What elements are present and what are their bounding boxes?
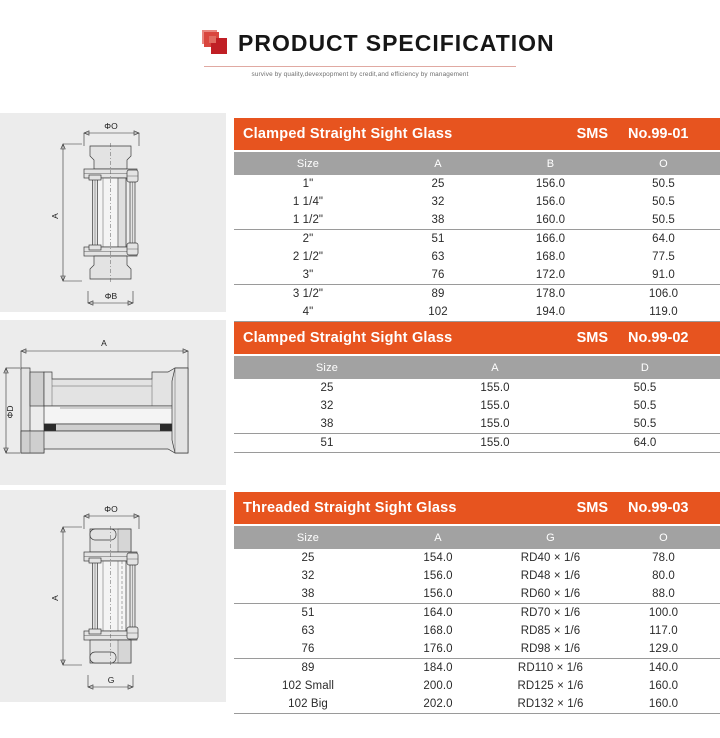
table-cell: 102 Small — [234, 677, 382, 695]
table-row: 4"102194.0119.0160.0 — [234, 303, 720, 322]
spec-table-2-number: No.99-02 — [608, 330, 720, 346]
table-row: 102 Big202.0RD132 × 1/6160.0 — [234, 695, 720, 714]
drawing-panel-2: A ΦD — [0, 320, 226, 485]
column-header-a: A — [420, 356, 570, 379]
dim-label-A: A — [50, 213, 60, 219]
table-row: 2 1/2"63168.077.5117.0 — [234, 248, 720, 266]
spec-table-1-body: 1"25156.050.578.01 1/4"32156.050.578.01 … — [234, 175, 720, 322]
spec-table-3-name: Threaded Straight Sight Glass — [234, 500, 577, 516]
column-header-size: Size — [234, 152, 382, 175]
table-cell: 156.0 — [494, 175, 607, 193]
table-cell: 76 — [382, 266, 494, 285]
table-cell: 155.0 — [420, 415, 570, 434]
dim-label-phi-D: ΦD — [5, 406, 15, 419]
spec-table-3: Size A G O 25154.0RD40 × 1/678.032156.0R… — [234, 526, 720, 714]
table-cell: 4" — [234, 303, 382, 322]
table-cell: 3" — [234, 266, 382, 285]
squares-logo-icon — [202, 29, 232, 57]
spec-table-2-title-bar: Clamped Straight Sight Glass SMS No.99-0… — [234, 322, 720, 354]
spec-table-1-wrap: Size A B O 1"25156.050.578.01 1/4"32156.… — [234, 150, 720, 322]
table-row: 32156.0RD48 × 1/680.0 — [234, 567, 720, 585]
dim-label-phi-O: ΦO — [104, 504, 118, 514]
table-cell: RD125 × 1/6 — [494, 677, 607, 695]
spec-table-2-standard: SMS — [577, 330, 608, 346]
table-row: 3"76172.091.0129.0 — [234, 266, 720, 285]
spec-table-3-standard: SMS — [577, 500, 608, 516]
table-cell: 51 — [234, 604, 382, 623]
table-cell: 2" — [234, 230, 382, 249]
spec-table-1-number: No.99-01 — [608, 126, 720, 142]
table-cell: 25 — [382, 175, 494, 193]
table-cell: 168.0 — [494, 248, 607, 266]
table-header-row: Size A B O — [234, 152, 720, 175]
table-cell: 178.0 — [494, 285, 607, 304]
table-cell: RD48 × 1/6 — [494, 567, 607, 585]
table-row: 51164.0RD70 × 1/6100.0 — [234, 604, 720, 623]
table-cell: 51 — [382, 230, 494, 249]
dim-label-G: G — [108, 675, 115, 685]
table-cell: 88.0 — [607, 585, 720, 604]
spec-table-1-title-bar: Clamped Straight Sight Glass SMS No.99-0… — [234, 118, 720, 150]
table-row: 3 1/2"89178.0106.0140.0 — [234, 285, 720, 304]
table-cell: 32 — [234, 397, 420, 415]
table-cell: 50.5 — [607, 211, 720, 230]
table-row: 38156.0RD60 × 1/688.0 — [234, 585, 720, 604]
page-title: PRODUCTSPECIFICATION — [238, 32, 555, 55]
table-cell: 1 1/4" — [234, 193, 382, 211]
spec-table-block-3: Threaded Straight Sight Glass SMS No.99-… — [234, 492, 720, 714]
page-header: PRODUCTSPECIFICATION survive by quality,… — [0, 0, 720, 100]
column-header-a: A — [382, 152, 494, 175]
column-header-size: Size — [234, 526, 382, 549]
title-divider — [204, 66, 516, 67]
table-cell: 3 1/2" — [234, 285, 382, 304]
table-cell: 168.0 — [382, 622, 494, 640]
table-cell: 32 — [382, 193, 494, 211]
table-cell: 25 — [234, 379, 420, 397]
table-cell: 160.0 — [607, 677, 720, 695]
table-cell: 32 — [234, 567, 382, 585]
table-cell: 117.0 — [607, 622, 720, 640]
column-header-size: Size — [234, 356, 420, 379]
clamped-straight-sight-glass-horizontal-drawing: A ΦD — [0, 320, 226, 485]
table-cell: 155.0 — [420, 434, 570, 453]
table-row: 102 Small200.0RD125 × 1/6160.0 — [234, 677, 720, 695]
column-header-g: G — [494, 526, 607, 549]
table-cell: 2 1/2" — [234, 248, 382, 266]
table-cell: 155.0 — [420, 379, 570, 397]
table-cell: 194.0 — [494, 303, 607, 322]
page-title-word-specification: SPECIFICATION — [366, 30, 555, 56]
table-cell: 50.5 — [570, 397, 720, 415]
threaded-straight-sight-glass-vertical-drawing: A ΦO G — [0, 490, 226, 702]
table-row: 25155.050.5 — [234, 379, 720, 397]
spec-table-2-body: 25155.050.532155.050.538155.050.551155.0… — [234, 379, 720, 453]
table-cell: 77.5 — [607, 248, 720, 266]
table-cell: 154.0 — [382, 549, 494, 567]
table-row: 32155.050.5 — [234, 397, 720, 415]
table-cell: RD98 × 1/6 — [494, 640, 607, 659]
table-cell: 119.0 — [607, 303, 720, 322]
table-cell: RD85 × 1/6 — [494, 622, 607, 640]
table-cell: 1 1/2" — [234, 211, 382, 230]
page-subtitle: survive by quality,devexpopment by credi… — [202, 71, 518, 78]
spec-table-2: Size A D 25155.050.532155.050.538155.050… — [234, 356, 720, 453]
table-cell: 38 — [382, 211, 494, 230]
table-cell: 202.0 — [382, 695, 494, 714]
table-row: 1 1/2"38160.050.580.0 — [234, 211, 720, 230]
table-cell: RD132 × 1/6 — [494, 695, 607, 714]
table-cell: 172.0 — [494, 266, 607, 285]
spec-table-1-name: Clamped Straight Sight Glass — [234, 126, 577, 142]
table-cell: 91.0 — [607, 266, 720, 285]
spec-table-3-body: 25154.0RD40 × 1/678.032156.0RD48 × 1/680… — [234, 549, 720, 714]
table-cell: 50.5 — [607, 175, 720, 193]
table-header-row: Size A G O — [234, 526, 720, 549]
column-header-o: O — [607, 526, 720, 549]
spec-table-2-name: Clamped Straight Sight Glass — [234, 330, 577, 346]
drawing-panel-1: A ΦO ΦB — [0, 113, 226, 312]
table-row: 25154.0RD40 × 1/678.0 — [234, 549, 720, 567]
table-cell: RD40 × 1/6 — [494, 549, 607, 567]
header-inner: PRODUCTSPECIFICATION survive by quality,… — [202, 25, 518, 78]
spec-table-block-1: Clamped Straight Sight Glass SMS No.99-0… — [234, 118, 720, 322]
table-cell: RD70 × 1/6 — [494, 604, 607, 623]
logo-square-accent — [209, 36, 216, 43]
spec-table-block-2: Clamped Straight Sight Glass SMS No.99-0… — [234, 322, 720, 453]
table-cell: 89 — [234, 659, 382, 678]
table-cell: 164.0 — [382, 604, 494, 623]
table-cell: 50.5 — [570, 415, 720, 434]
spec-table-3-number: No.99-03 — [608, 500, 720, 516]
table-row: 2"51166.064.0100.0 — [234, 230, 720, 249]
table-cell: 25 — [234, 549, 382, 567]
table-header-row: Size A D — [234, 356, 720, 379]
table-cell: 129.0 — [607, 640, 720, 659]
table-cell: RD110 × 1/6 — [494, 659, 607, 678]
table-cell: 156.0 — [382, 567, 494, 585]
table-cell: 140.0 — [607, 659, 720, 678]
table-cell: 100.0 — [607, 604, 720, 623]
spec-table-1: Size A B O 1"25156.050.578.01 1/4"32156.… — [234, 152, 720, 322]
table-cell: 176.0 — [382, 640, 494, 659]
table-cell: 156.0 — [494, 193, 607, 211]
table-cell: 106.0 — [607, 285, 720, 304]
table-cell: 102 — [382, 303, 494, 322]
table-cell: 51 — [234, 434, 420, 453]
table-cell: 76 — [234, 640, 382, 659]
spec-table-1-standard: SMS — [577, 126, 608, 142]
table-cell: 1" — [234, 175, 382, 193]
table-cell: 200.0 — [382, 677, 494, 695]
table-cell: 155.0 — [420, 397, 570, 415]
table-cell: RD60 × 1/6 — [494, 585, 607, 604]
table-row: 51155.064.0 — [234, 434, 720, 453]
table-cell: 38 — [234, 415, 420, 434]
table-cell: 89 — [382, 285, 494, 304]
spec-table-3-wrap: Size A G O 25154.0RD40 × 1/678.032156.0R… — [234, 524, 720, 714]
table-row: 1 1/4"32156.050.578.0 — [234, 193, 720, 211]
clamped-straight-sight-glass-vertical-drawing: A ΦO ΦB — [0, 113, 226, 312]
page-title-word-product: PRODUCT — [238, 30, 359, 56]
dim-label-A: A — [101, 338, 107, 348]
table-cell: 63 — [234, 622, 382, 640]
table-row: 63168.0RD85 × 1/6117.0 — [234, 622, 720, 640]
table-cell: 156.0 — [382, 585, 494, 604]
table-row: 76176.0RD98 × 1/6129.0 — [234, 640, 720, 659]
table-cell: 166.0 — [494, 230, 607, 249]
table-row: 1"25156.050.578.0 — [234, 175, 720, 193]
table-cell: 184.0 — [382, 659, 494, 678]
dim-label-A: A — [50, 595, 60, 601]
spec-table-3-title-bar: Threaded Straight Sight Glass SMS No.99-… — [234, 492, 720, 524]
table-cell: 50.5 — [607, 193, 720, 211]
column-header-b: B — [494, 152, 607, 175]
column-header-a: A — [382, 526, 494, 549]
table-cell: 160.0 — [494, 211, 607, 230]
table-cell: 80.0 — [607, 567, 720, 585]
column-header-d: D — [570, 356, 720, 379]
logo-title-row: PRODUCTSPECIFICATION — [202, 25, 518, 61]
table-cell: 160.0 — [607, 695, 720, 714]
table-row: 89184.0RD110 × 1/6140.0 — [234, 659, 720, 678]
table-cell: 38 — [234, 585, 382, 604]
table-row: 38155.050.5 — [234, 415, 720, 434]
table-cell: 102 Big — [234, 695, 382, 714]
column-header-o: O — [607, 152, 720, 175]
table-cell: 64.0 — [570, 434, 720, 453]
dim-label-phi-O: ΦO — [104, 121, 118, 131]
table-cell: 64.0 — [607, 230, 720, 249]
table-cell: 50.5 — [570, 379, 720, 397]
table-cell: 78.0 — [607, 549, 720, 567]
spec-table-2-wrap: Size A D 25155.050.532155.050.538155.050… — [234, 354, 720, 453]
dim-label-phi-B: ΦB — [105, 291, 118, 301]
drawing-panel-3: A ΦO G — [0, 490, 226, 702]
table-cell: 63 — [382, 248, 494, 266]
